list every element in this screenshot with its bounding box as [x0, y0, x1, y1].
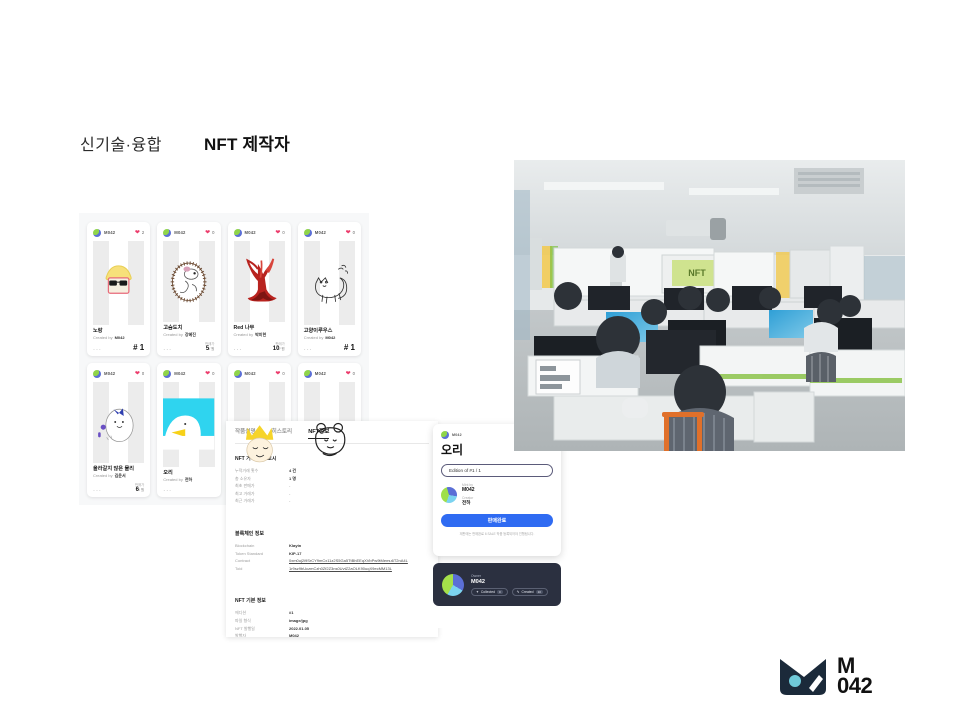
more-options-icon[interactable]: ... [163, 486, 172, 493]
nft-card-likes: 0 [282, 371, 284, 376]
nft-card-owner: M042 [174, 371, 185, 376]
more-options-icon[interactable]: ... [234, 345, 243, 352]
trade-info-row: 총 소유자 1 명 [235, 475, 429, 483]
chip-count: 0 [497, 590, 503, 594]
collected-chip[interactable]: ✦Collected0 [471, 588, 508, 596]
nft-card-header: M042 ❤ 2 [93, 227, 144, 238]
nft-card-header: M042 ❤ 0 [163, 368, 214, 379]
more-options-icon[interactable]: ... [163, 345, 172, 352]
nft-card-likes: 0 [353, 371, 355, 376]
nft-card-title: 오리 [163, 469, 214, 476]
created-icon: ✎ [517, 590, 520, 594]
heart-icon[interactable]: ❤ [135, 230, 140, 236]
info-value: #1 [289, 609, 293, 617]
logo-wordmark: M 042 [837, 656, 872, 696]
info-value: Klaytn [289, 542, 301, 550]
avatar [441, 431, 449, 439]
avatar [163, 370, 171, 378]
brand-logo: M 042 [778, 655, 872, 697]
edition-selector[interactable]: Edition of #1 / 1 [441, 464, 553, 477]
nft-card-artwork [163, 241, 214, 322]
side-card-owner-tag: M042 [452, 433, 462, 437]
nft-card-likes: 0 [282, 230, 284, 235]
chip-count: 10 [536, 590, 543, 594]
svg-text:NFT: NFT [688, 268, 706, 278]
blockchain-info-row: Blockchain Klaytn [235, 542, 429, 550]
heart-icon[interactable]: ❤ [275, 230, 280, 236]
creator-value: 전하 [462, 500, 475, 506]
nft-card-footer: ... [163, 483, 214, 493]
nft-card-footer: ... # 1 [304, 340, 355, 352]
nft-card-likes: 2 [142, 230, 144, 235]
blockchain-info-rows: Blockchain KlaytnToken Standard KIP-17Co… [235, 542, 429, 572]
avatar [163, 229, 171, 237]
collected-icon: ✦ [476, 590, 479, 594]
owner-chips: ✦Collected0✎Created10 [471, 588, 548, 596]
nft-card-row: M042 ❤ 2 노랑 Created byM042 [87, 222, 361, 356]
trade-info-row: 최근 거래가 - [235, 497, 429, 505]
slide-root: 신기술·융합 NFT 제작자 M042 ❤ 2 [0, 0, 960, 720]
logo-line-2: 042 [837, 676, 872, 696]
info-key: 총 소유자 [235, 475, 289, 483]
avatar [304, 229, 312, 237]
nft-card[interactable]: M042 ❤ 0 [298, 222, 361, 356]
nft-card[interactable]: M042 ❤ 0 오리 Created by전하 [157, 363, 220, 497]
heart-icon[interactable]: ❤ [205, 230, 210, 236]
creator-avatar [441, 487, 457, 503]
heart-icon[interactable]: ❤ [135, 371, 140, 377]
nft-card-footer: ... # 1 [93, 340, 144, 352]
heart-icon[interactable]: ❤ [346, 230, 351, 236]
nft-card-owner: M042 [104, 230, 115, 235]
info-key: NFT 발행일 [235, 625, 289, 633]
nft-card-artwork [234, 241, 285, 322]
nft-card-header: M042 ❤ 0 [163, 227, 214, 238]
info-value: KIP-17 [289, 550, 301, 558]
info-key: 최초 판매가 [235, 482, 289, 490]
basic-info-row: NFT 발행일 2022.01.05 [235, 625, 429, 633]
m042-logo-icon [778, 655, 830, 697]
nft-card-header: M042 ❤ 0 [304, 368, 355, 379]
basic-section-title: NFT 기본 정보 [235, 597, 429, 604]
info-key: 최고 거래가 [235, 490, 289, 498]
buy-button[interactable]: 판매완료 [441, 514, 553, 527]
basic-info-row: 발행자 M042 [235, 632, 429, 637]
nft-card-likes: 0 [212, 230, 214, 235]
price-value: 6/ 원 [135, 487, 144, 493]
heart-icon[interactable]: ❤ [346, 371, 351, 377]
nft-card[interactable]: M042 ❤ 0 Red 나무 Created by박미현 [228, 222, 291, 356]
info-key: 발행자 [235, 632, 289, 637]
nft-card-artwork [304, 241, 355, 325]
chain-section-title: 블록체인 정보 [235, 530, 429, 537]
nft-card-owner: M042 [315, 371, 326, 376]
created-chip[interactable]: ✎Created10 [512, 588, 548, 596]
chip-label: Created [522, 590, 534, 594]
basic-info-rows: 에디션 #1파일 형식 image/jpgNFT 발행일 2022.01.05발… [235, 609, 429, 637]
nft-card-title: 고슴도치 [163, 324, 214, 331]
basic-info-row: 에디션 #1 [235, 609, 429, 617]
mint-value: M042 [462, 487, 475, 493]
more-options-icon[interactable]: ... [304, 345, 313, 352]
price-value: 5/ 원 [205, 346, 214, 352]
nft-card-title: 노랑 [93, 327, 144, 334]
info-key: Contract [235, 557, 289, 565]
more-options-icon[interactable]: ... [93, 345, 102, 352]
nft-card-title: Red 나무 [234, 324, 285, 331]
avatar [234, 229, 242, 237]
trade-info-row: 최초 판매가 - [235, 482, 429, 490]
nft-card-artwork [163, 382, 214, 467]
nft-card[interactable]: M042 ❤ 2 노랑 Created byM042 [87, 222, 150, 356]
nft-card-owner: M042 [245, 371, 256, 376]
info-value: 4 건 [289, 467, 296, 475]
info-key: Token Standard [235, 550, 289, 558]
avatar [234, 370, 242, 378]
avatar [93, 370, 101, 378]
owner-label: Owner [471, 574, 548, 578]
info-key: Toid [235, 565, 289, 573]
blockchain-info-row: Contract 0xm0uj2i9SrCY9mCx11z2S5Ga5TtBhE… [235, 557, 429, 565]
nft-card-owner: M042 [245, 230, 256, 235]
nft-card-artwork [93, 382, 144, 463]
owner-card-backdrop [433, 606, 561, 628]
owner-avatar [442, 574, 464, 596]
blockchain-info-row: Toid 1r9sz9bUczmCzh0Zf2Z3ns0UvtZ2aOLK90u… [235, 565, 429, 573]
info-value[interactable]: 1r9sz9bUczmCzh0Zf2Z3ns0UvtZ2aOLK90uqX9ec… [289, 565, 392, 573]
title-row: 신기술·융합 NFT 제작자 [80, 130, 290, 155]
nft-card-owner: M042 [174, 230, 185, 235]
info-value: 1 명 [289, 475, 296, 483]
basic-info-row: 파일 형식 image/jpg [235, 617, 429, 625]
avatar [93, 229, 101, 237]
info-value[interactable]: 0xm0uj2i9SrCY9mCx11z2S5Ga5TtBhEEqXVbPw9t… [289, 557, 408, 565]
nft-card-edition: # 1 [344, 343, 355, 352]
nft-card-owner: M042 [104, 371, 115, 376]
info-key: Blockchain [235, 542, 289, 550]
slide-kicker: 신기술·융합 [80, 131, 162, 155]
nft-card[interactable]: M042 ❤ 0 올라갈지 않은 물 [87, 363, 150, 497]
nft-card-header: M042 ❤ 0 [93, 368, 144, 379]
info-value: M042 [289, 632, 299, 637]
nft-card-likes: 0 [353, 230, 355, 235]
nft-card-title: 고양이루우스 [304, 327, 355, 334]
info-key: 파일 형식 [235, 617, 289, 625]
heart-icon[interactable]: ❤ [275, 371, 280, 377]
nft-card-title: 올라갈지 않은 물리 [93, 465, 144, 472]
nft-card-footer: ... 판매가5/ 원 [163, 338, 214, 352]
classroom-photo-illustration: NFT [514, 160, 905, 451]
info-value: image/jpg [289, 617, 308, 625]
nft-card-header: M042 ❤ 0 [304, 227, 355, 238]
nft-card-edition: # 1 [133, 343, 144, 352]
info-value: - [289, 497, 290, 505]
info-value: - [289, 482, 290, 490]
info-value: 2022.01.05 [289, 625, 309, 633]
price-value: 10/ 원 [273, 346, 285, 352]
info-key: 최근 거래가 [235, 497, 289, 505]
nft-card[interactable]: M042 ❤ 0 [157, 222, 220, 356]
blockchain-info-row: Token Standard KIP-17 [235, 550, 429, 558]
owner-card: Owner M042 ✦Collected0✎Created10 [433, 563, 561, 606]
nft-card-artwork [93, 241, 144, 325]
chip-label: Collected [481, 590, 495, 594]
nft-card-likes: 0 [212, 371, 214, 376]
buy-note: 재판매는 판매완료 6 SALE 작품 등록되어야 진행됩니다. [441, 531, 553, 536]
info-value: - [289, 490, 290, 498]
avatar [304, 370, 312, 378]
nft-card-footer: ... 판매가10/ 원 [234, 338, 285, 352]
info-key: 에디션 [235, 609, 289, 617]
classroom-photo: NFT [514, 160, 905, 451]
edition-label: Edition of #1 / 1 [449, 468, 481, 473]
nft-card-owner: M042 [315, 230, 326, 235]
nft-card-likes: 0 [142, 371, 144, 376]
more-options-icon[interactable]: ... [93, 486, 102, 493]
heart-icon[interactable]: ❤ [205, 371, 210, 377]
page-title: NFT 제작자 [204, 130, 290, 155]
nft-card-header: M042 ❤ 0 [234, 227, 285, 238]
nft-card-footer: ... 판매가6/ 원 [93, 479, 144, 493]
creator-row: Mint by M042 Creator 전하 [441, 483, 553, 506]
owner-name: M042 [471, 579, 548, 585]
nft-marketplace-grid: M042 ❤ 2 노랑 Created byM042 [79, 213, 369, 505]
nft-card-header: M042 ❤ 0 [234, 368, 285, 379]
trade-info-row: 최고 거래가 - [235, 490, 429, 498]
trade-info-rows: 누적거래 횟수 4 건총 소유자 1 명최초 판매가 -최고 거래가 -최근 거… [235, 467, 429, 505]
